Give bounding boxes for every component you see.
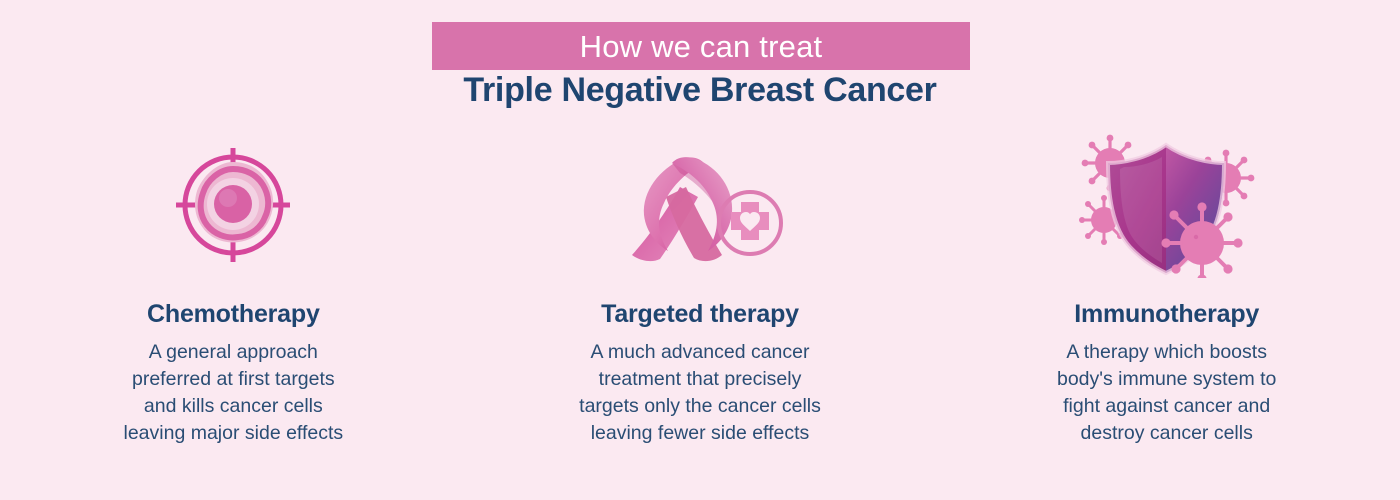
treatment-columns: Chemotherapy A general approach preferre… (0, 130, 1400, 490)
pink-ribbon-medical-cross-icon (467, 130, 934, 280)
page-header: How we can treat Triple Negative Breast … (0, 0, 1400, 120)
column-targeted-therapy: Targeted therapy A much advanced cancer … (467, 130, 934, 490)
column-description: A general approach preferred at first ta… (124, 339, 344, 447)
target-cell-icon (0, 130, 467, 280)
header-banner: How we can treat (432, 22, 970, 70)
page-title: Triple Negative Breast Cancer (0, 72, 1400, 109)
banner-text: How we can treat (580, 31, 823, 62)
column-title: Chemotherapy (147, 302, 320, 327)
column-immunotherapy: Immunotherapy A therapy which boosts bod… (933, 130, 1400, 490)
shield-virus-icon (933, 130, 1400, 280)
column-description: A therapy which boosts body's immune sys… (1057, 339, 1276, 447)
column-title: Targeted therapy (601, 302, 799, 327)
column-description: A much advanced cancer treatment that pr… (579, 339, 821, 447)
column-title: Immunotherapy (1074, 302, 1259, 327)
column-chemotherapy: Chemotherapy A general approach preferre… (0, 130, 467, 490)
